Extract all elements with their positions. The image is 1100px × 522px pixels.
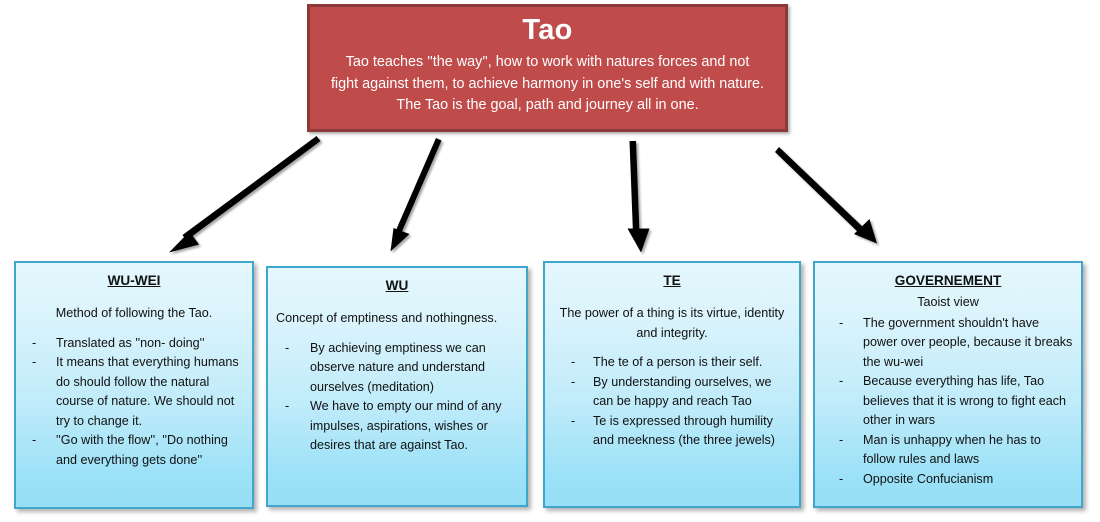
list-item-text: It means that everything humans do shoul… bbox=[56, 355, 239, 428]
list-item-text: We have to empty our mind of any impulse… bbox=[310, 399, 502, 452]
list-item: -Opposite Confucianism bbox=[823, 470, 1073, 490]
arrow-to-wu bbox=[391, 138, 442, 252]
list-item: -''Go with the flow'', ''Do nothing and … bbox=[24, 431, 244, 470]
bullet-dash-icon: - bbox=[285, 339, 289, 359]
list-item: -Translated as ''non- doing'' bbox=[24, 334, 244, 354]
root-node-description: Tao teaches ''the way'', how to work wit… bbox=[320, 52, 775, 117]
concept-box-intro: Taoist view bbox=[823, 293, 1073, 313]
root-description-line: fight against them, to achieve harmony i… bbox=[324, 74, 771, 96]
bullet-dash-icon: - bbox=[32, 334, 36, 354]
bullet-dash-icon: - bbox=[839, 470, 843, 490]
root-description-line: The Tao is the goal, path and journey al… bbox=[324, 95, 771, 117]
concept-box-heading: TE bbox=[553, 271, 791, 291]
concept-box-heading: WU-WEI bbox=[24, 271, 244, 291]
bullet-dash-icon: - bbox=[839, 372, 843, 392]
concept-box-wu: WU Concept of emptiness and nothingness.… bbox=[266, 266, 528, 507]
concept-bullet-list: -The te of a person is their self. -By u… bbox=[553, 353, 791, 451]
list-item: -The te of a person is their self. bbox=[553, 353, 791, 373]
list-item-text: ''Go with the flow'', ''Do nothing and e… bbox=[56, 433, 228, 467]
list-item: -It means that everything humans do shou… bbox=[24, 353, 244, 431]
bullet-dash-icon: - bbox=[571, 373, 575, 393]
list-item-text: Because everything has life, Tao believe… bbox=[863, 374, 1066, 427]
list-item-text: Te is expressed through humility and mee… bbox=[593, 414, 775, 448]
list-item-text: Translated as ''non- doing'' bbox=[56, 336, 204, 350]
arrow-to-te bbox=[628, 141, 650, 253]
bullet-dash-icon: - bbox=[32, 431, 36, 451]
arrow-to-wu-wei bbox=[169, 136, 321, 253]
root-description-line: Tao teaches ''the way'', how to work wit… bbox=[324, 52, 771, 74]
list-item: -We have to empty our mind of any impuls… bbox=[276, 397, 518, 456]
concept-box-wu-wei: WU-WEI Method of following the Tao. -Tra… bbox=[14, 261, 254, 509]
concept-box-te: TE The power of a thing is its virtue, i… bbox=[543, 261, 801, 508]
concept-box-heading: WU bbox=[276, 276, 518, 296]
list-item-text: Man is unhappy when he has to follow rul… bbox=[863, 433, 1041, 467]
bullet-dash-icon: - bbox=[285, 397, 289, 417]
concept-box-intro: The power of a thing is its virtue, iden… bbox=[553, 304, 791, 343]
bullet-dash-icon: - bbox=[839, 314, 843, 334]
list-item: -By understanding ourselves, we can be h… bbox=[553, 373, 791, 412]
list-item-text: Opposite Confucianism bbox=[863, 472, 993, 486]
list-item: -By achieving emptiness we can observe n… bbox=[276, 339, 518, 398]
bullet-dash-icon: - bbox=[571, 412, 575, 432]
list-item-text: By achieving emptiness we can observe na… bbox=[310, 341, 486, 394]
arrow-to-governement bbox=[775, 147, 877, 244]
list-item: -Te is expressed through humility and me… bbox=[553, 412, 791, 451]
bullet-dash-icon: - bbox=[571, 353, 575, 373]
concept-bullet-list: -Translated as ''non- doing'' -It means … bbox=[24, 334, 244, 471]
list-item: -The government shouldn't have power ove… bbox=[823, 314, 1073, 373]
bullet-dash-icon: - bbox=[32, 353, 36, 373]
concept-box-intro: Method of following the Tao. bbox=[24, 304, 244, 324]
list-item: -Man is unhappy when he has to follow ru… bbox=[823, 431, 1073, 470]
list-item: -Because everything has life, Tao believ… bbox=[823, 372, 1073, 431]
list-item-text: The te of a person is their self. bbox=[593, 355, 762, 369]
list-item-text: The government shouldn't have power over… bbox=[863, 316, 1072, 369]
concept-box-heading: GOVERNEMENT bbox=[823, 271, 1073, 291]
concept-box-governement: GOVERNEMENT Taoist view -The government … bbox=[813, 261, 1083, 508]
concept-bullet-list: -By achieving emptiness we can observe n… bbox=[276, 339, 518, 456]
concept-box-intro: Concept of emptiness and nothingness. bbox=[276, 309, 518, 329]
concept-bullet-list: -The government shouldn't have power ove… bbox=[823, 314, 1073, 490]
list-item-text: By understanding ourselves, we can be ha… bbox=[593, 375, 772, 409]
root-node-tao: Tao Tao teaches ''the way'', how to work… bbox=[307, 4, 788, 132]
root-node-title: Tao bbox=[320, 13, 775, 47]
bullet-dash-icon: - bbox=[839, 431, 843, 451]
